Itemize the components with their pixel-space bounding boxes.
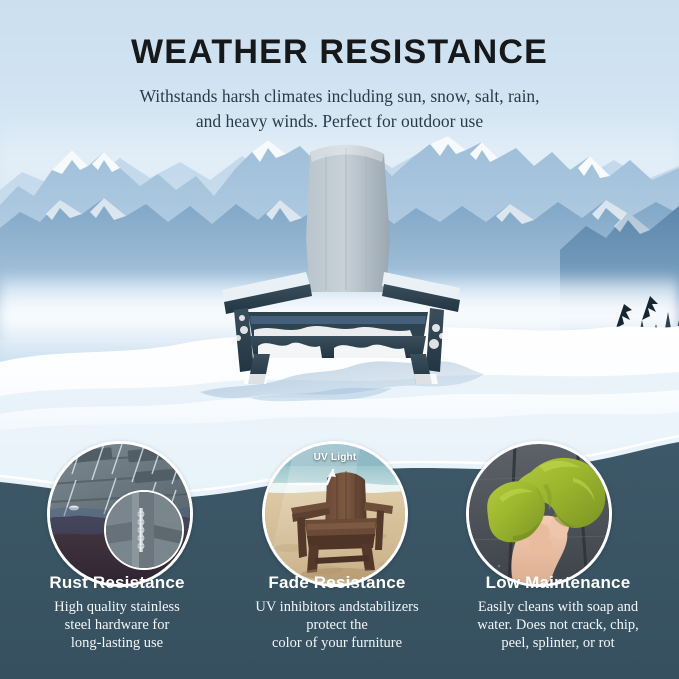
hardware-closeup-inset	[104, 490, 184, 570]
feature-caption-low-maintenance: Low Maintenance Easily cleans with soap …	[448, 572, 668, 652]
page-title: WEATHER RESISTANCE	[0, 32, 679, 72]
feature-desc-line-1: UV inhibitors andstabilizers	[227, 598, 447, 616]
infographic-poster: WEATHER RESISTANCE Withstands harsh clim…	[0, 0, 679, 679]
page-subtitle: Withstands harsh climates including sun,…	[90, 84, 589, 134]
uv-light-arrow-icon	[287, 466, 357, 492]
subtitle-line-2: and heavy winds. Perfect for outdoor use	[90, 109, 589, 134]
feature-desc-line-2: steel hardware for	[7, 616, 227, 634]
feature-description: Easily cleans with soap and water. Does …	[448, 598, 668, 652]
feature-description: High quality stainless steel hardware fo…	[7, 598, 227, 652]
feature-caption-fade-resistance: Fade Resistance UV inhibitors andstabili…	[227, 572, 447, 652]
feature-caption-rust-resistance: Rust Resistance High quality stainless s…	[7, 572, 227, 652]
feature-image-low-maintenance	[466, 441, 612, 587]
feature-title: Fade Resistance	[227, 572, 447, 594]
feature-title: Rust Resistance	[7, 572, 227, 594]
uv-light-label: UV Light	[265, 452, 405, 463]
feature-title: Low Maintenance	[448, 572, 668, 594]
hero-adirondack-chair	[214, 140, 464, 385]
subtitle-line-1: Withstands harsh climates including sun,…	[90, 84, 589, 109]
feature-desc-line-1: High quality stainless	[7, 598, 227, 616]
feature-desc-line-1: Easily cleans with soap and	[448, 598, 668, 616]
feature-desc-line-3: color of your furniture	[227, 634, 447, 652]
feature-desc-line-3: long-lasting use	[7, 634, 227, 652]
feature-image-rust-resistance	[47, 441, 193, 587]
feature-desc-line-3: peel, splinter, or rot	[448, 634, 668, 652]
feature-image-fade-resistance: UV Light	[262, 441, 408, 587]
feature-desc-line-2: protect the	[227, 616, 447, 634]
feature-desc-line-2: water. Does not crack, chip,	[448, 616, 668, 634]
feature-description: UV inhibitors andstabilizers protect the…	[227, 598, 447, 652]
